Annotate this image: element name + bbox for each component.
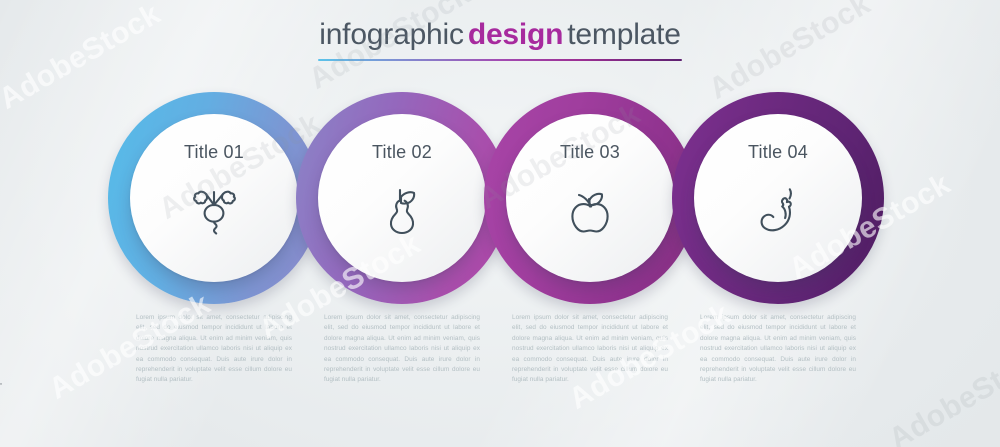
description-text-2: Lorem ipsum dolor sit amet, consectetur … — [324, 313, 480, 386]
step-disc-3[interactable]: Title 03 — [506, 114, 674, 282]
description-text-3: Lorem ipsum dolor sit amet, consectetur … — [512, 313, 668, 386]
title-word-design: design — [464, 18, 567, 51]
page-header: infographicdesigntemplate — [0, 18, 1000, 61]
step-node-1[interactable]: Title 01 — [108, 92, 320, 304]
radish-icon — [182, 177, 246, 241]
page-title: infographicdesigntemplate — [0, 18, 1000, 52]
step-disc-1[interactable]: Title 01 — [130, 114, 298, 282]
step-disc-2[interactable]: Title 02 — [318, 114, 486, 282]
step-node-3[interactable]: Title 03 — [484, 92, 696, 304]
description-text-1: Lorem ipsum dolor sit amet, consectetur … — [136, 313, 292, 386]
title-word-template: template — [567, 18, 680, 51]
description-block-4: Lorem ipsum dolor sit amet, consectetur … — [700, 313, 856, 386]
pear-icon — [370, 177, 434, 241]
step-title-4: Title 04 — [748, 142, 808, 163]
stock-id-label: Adobe Stock | #511463889 — [0, 328, 2, 441]
description-block-3: Lorem ipsum dolor sit amet, consectetur … — [512, 313, 668, 386]
description-block-2: Lorem ipsum dolor sit amet, consectetur … — [324, 313, 480, 386]
step-node-4[interactable]: Title 04 — [672, 92, 884, 304]
description-text-4: Lorem ipsum dolor sit amet, consectetur … — [700, 313, 856, 386]
chili-pepper-icon — [746, 177, 810, 241]
apple-icon — [558, 177, 622, 241]
step-title-2: Title 02 — [372, 142, 432, 163]
title-word-infographic: infographic — [319, 18, 464, 51]
step-disc-4[interactable]: Title 04 — [694, 114, 862, 282]
step-title-3: Title 03 — [560, 142, 620, 163]
step-title-1: Title 01 — [184, 142, 244, 163]
title-underline-gradient — [318, 59, 682, 61]
description-block-1: Lorem ipsum dolor sit amet, consectetur … — [136, 313, 292, 386]
infographic-canvas: infographicdesigntemplate Title 01 — [0, 0, 1000, 447]
step-node-2[interactable]: Title 02 — [296, 92, 508, 304]
description-row: Lorem ipsum dolor sit amet, consectetur … — [0, 313, 1000, 423]
step-circle-row: Title 01 Title 02 — [0, 92, 1000, 304]
